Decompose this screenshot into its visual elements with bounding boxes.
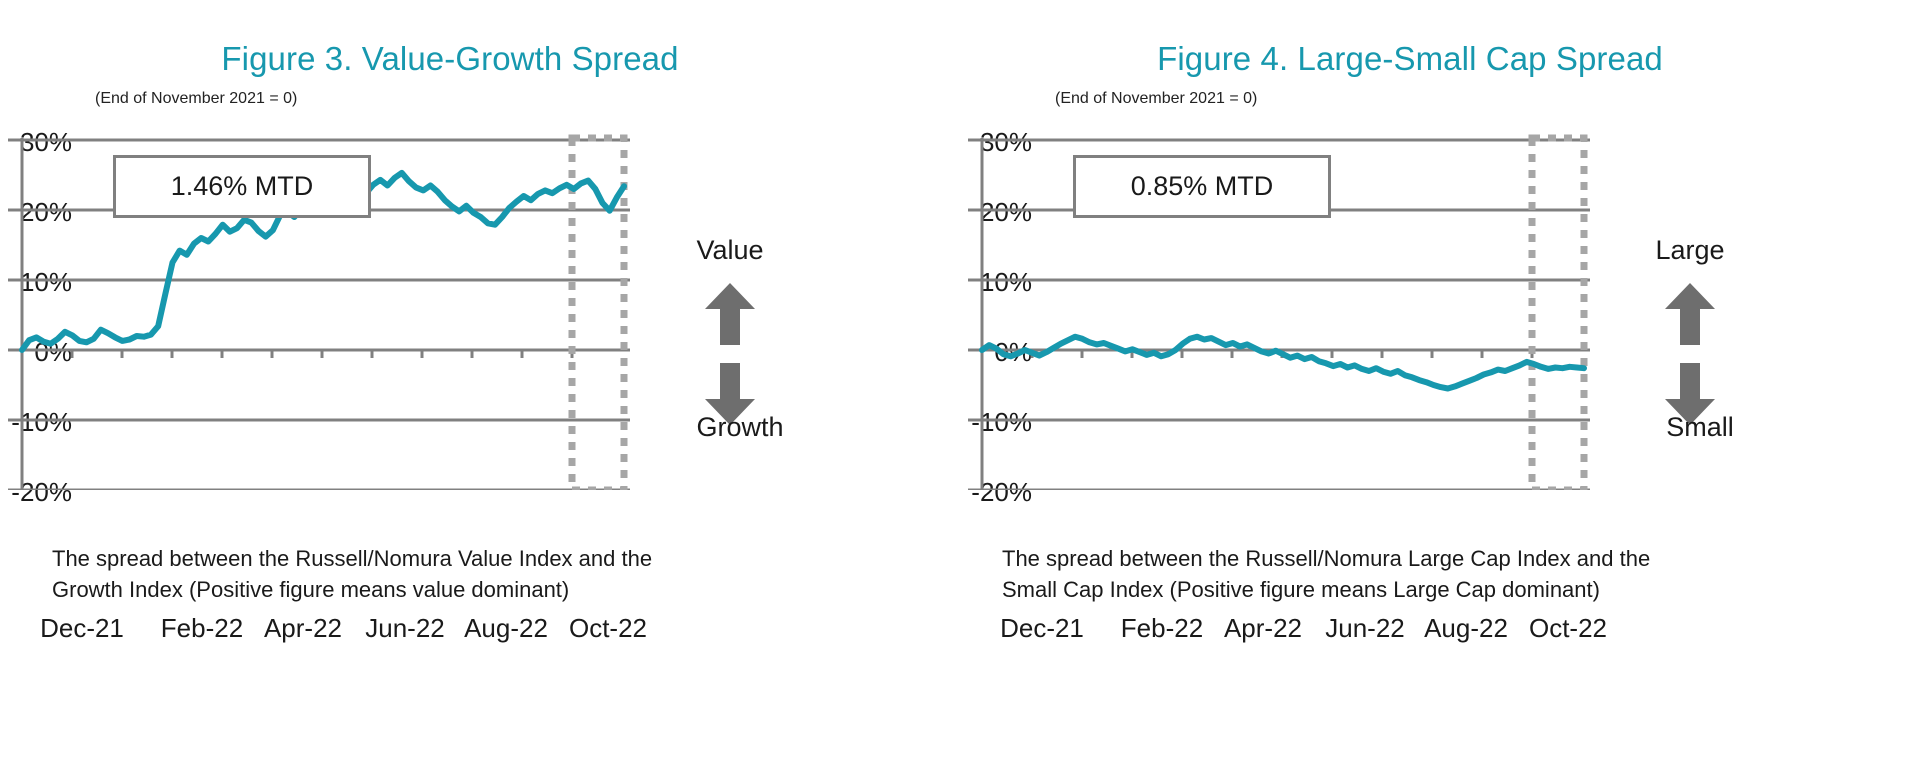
figure-4-caption-line2: Small Cap Index (Positive figure means L…	[1002, 574, 1682, 605]
figure-3-subtitle: (End of November 2021 = 0)	[95, 90, 297, 108]
figure-3-down-label: Growth	[650, 412, 830, 443]
figure-3-caption-line1: The spread between the Russell/Nomura Va…	[52, 543, 732, 574]
figure-4-mtd-box: 0.85% MTD	[1073, 155, 1331, 218]
figure-4-up-label: Large	[1610, 235, 1770, 266]
figure-4-xtick-5: Oct-22	[1483, 613, 1653, 644]
figure-4-highlight-box	[1532, 138, 1584, 490]
figure-4-up-arrow-icon	[1665, 283, 1715, 345]
figure-3-up-arrow-icon	[705, 283, 755, 345]
figure-3-xtick-5: Oct-22	[523, 613, 693, 644]
figure-4-caption-line1: The spread between the Russell/Nomura La…	[1002, 543, 1682, 574]
figure-4-series-line	[982, 337, 1584, 389]
figures-page: Figure 3. Value-Growth Spread (End of No…	[0, 0, 1920, 783]
figure-3-caption: The spread between the Russell/Nomura Va…	[52, 543, 732, 605]
figure-4-caption: The spread between the Russell/Nomura La…	[1002, 543, 1682, 605]
figure-3-title: Figure 3. Value-Growth Spread	[0, 40, 900, 78]
figure-3-caption-line2: Growth Index (Positive figure means valu…	[52, 574, 732, 605]
figure-4-subtitle: (End of November 2021 = 0)	[1055, 90, 1257, 108]
figure-4-title: Figure 4. Large-Small Cap Spread	[960, 40, 1860, 78]
figure-3-up-label: Value	[650, 235, 810, 266]
figure-4-down-label: Small	[1610, 412, 1790, 443]
figure-3: Figure 3. Value-Growth Spread (End of No…	[0, 0, 960, 783]
figure-4: Figure 4. Large-Small Cap Spread (End of…	[960, 0, 1920, 783]
figure-3-mtd-box: 1.46% MTD	[113, 155, 371, 218]
